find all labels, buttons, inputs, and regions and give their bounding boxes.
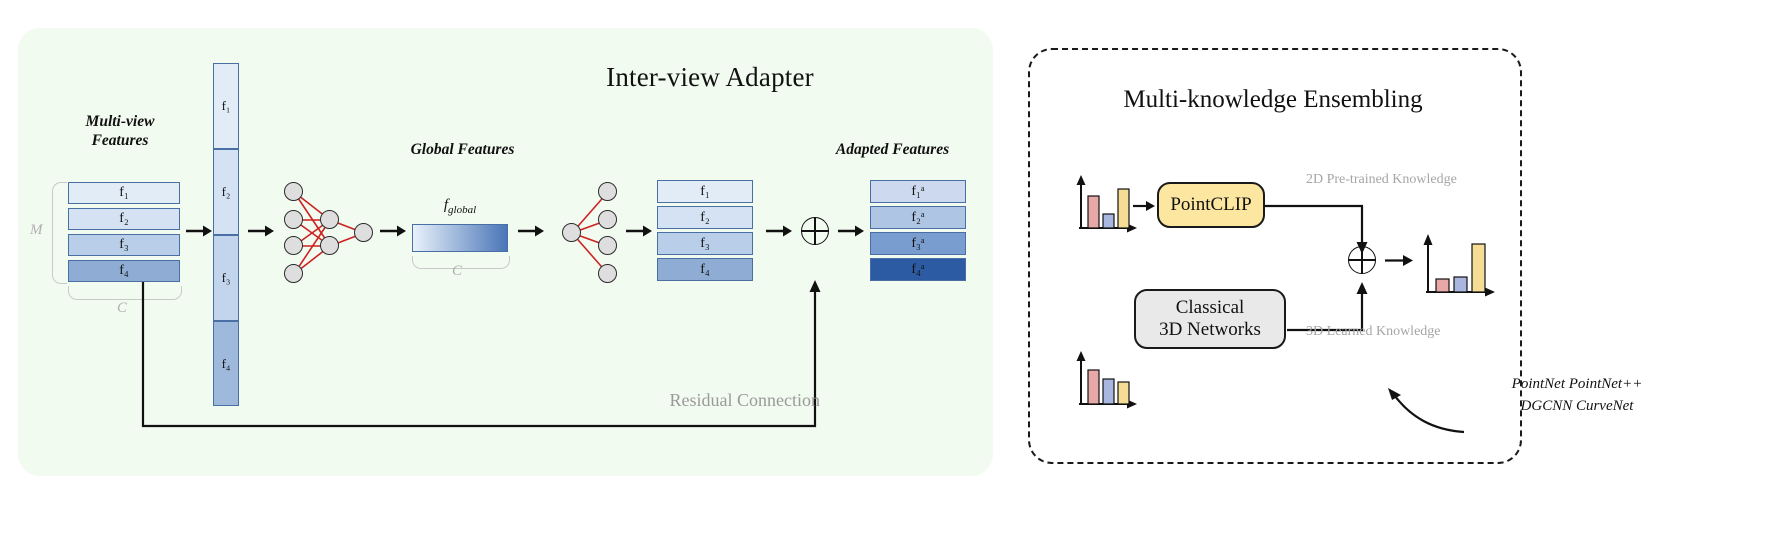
global-feature-bar <box>412 224 508 252</box>
classical-label-line1: Classical <box>1159 297 1261 319</box>
arrow-icon-to-output <box>1385 252 1413 269</box>
bar-chart-pointclip-input <box>1072 172 1140 234</box>
mid-feature-box-3: f₃ <box>657 232 753 255</box>
classical-network-names: PointNet PointNet++ DGCNN CurveNet <box>1482 374 1672 418</box>
mid-feature-label-1: f₁ <box>700 184 710 200</box>
arrow-icon-4 <box>518 222 544 240</box>
ensemble-add-icon <box>1348 246 1376 274</box>
caption-global-features: Global Features <box>355 140 570 159</box>
mlp-node <box>284 210 303 229</box>
pointclip-label: PointCLIP <box>1170 194 1251 216</box>
mlp-node <box>598 210 617 229</box>
multiview-feature-label-2: f₂ <box>119 211 129 227</box>
multiview-feature-box-2: f₂ <box>68 208 180 230</box>
label-2d-pretrained-knowledge: 2D Pre-trained Knowledge <box>1306 172 1457 188</box>
adapted-feature-box-1: f₁ᵃ <box>870 180 966 203</box>
adapted-feature-label-1: f₁ᵃ <box>911 184 924 200</box>
mlp-node <box>320 210 339 229</box>
arrow-icon-2 <box>248 222 274 240</box>
caption-multiview-line2: Features <box>40 131 200 150</box>
network-names-line2: DGCNN CurveNet <box>1482 396 1672 418</box>
arrow-icon-7 <box>838 222 864 240</box>
arrow-icon-to-pointclip <box>1133 198 1155 214</box>
mid-feature-box-2: f₂ <box>657 206 753 229</box>
arrow-icon-6 <box>766 222 792 240</box>
residual-connection-path <box>130 270 830 460</box>
adapted-feature-label-3: f₃ᵃ <box>911 236 924 252</box>
multiview-feature-label-1: f₁ <box>119 185 129 201</box>
adapted-feature-label-2: f₂ᵃ <box>911 210 924 226</box>
brace-m <box>52 182 67 284</box>
classical-label-line2: 3D Networks <box>1159 319 1261 341</box>
curved-arrow-to-classical-box <box>1284 378 1474 440</box>
arrow-icon-5 <box>626 222 652 240</box>
adapted-feature-box-3: f₃ᵃ <box>870 232 966 255</box>
multiview-feature-label-4: f₄ <box>119 263 129 279</box>
caption-adapted-features: Adapted Features <box>785 140 1000 159</box>
caption-multiview-line1: Multi-view <box>40 112 200 131</box>
mlp-node <box>598 264 617 283</box>
concat-bar-label-1: f₁ <box>222 98 231 114</box>
adapted-feature-label-4: f₄ᵃ <box>911 262 924 278</box>
mlp-node <box>284 236 303 255</box>
mlp-node <box>598 182 617 201</box>
dim-label-c: C <box>117 300 127 317</box>
mlp-node <box>284 264 303 283</box>
mlp-node <box>598 236 617 255</box>
label-3d-learned-knowledge: 3D Learned Knowledge <box>1306 324 1441 340</box>
bar-chart-ensembled-output <box>1418 228 1498 300</box>
multiview-feature-box-1: f₁ <box>68 182 180 204</box>
page-title-inter-view-adapter: Inter-view Adapter <box>380 62 1040 93</box>
global-feature-label: fglobal <box>402 197 518 216</box>
residual-connection-label: Residual Connection <box>600 390 820 411</box>
classical-3d-networks-box[interactable]: Classical 3D Networks <box>1134 289 1286 349</box>
multiview-feature-label-3: f₃ <box>119 237 129 253</box>
mlp-node <box>562 223 581 242</box>
dim-label-m: M <box>30 222 43 239</box>
network-names-line1: PointNet PointNet++ <box>1482 374 1672 396</box>
residual-add-icon <box>801 217 829 245</box>
mid-feature-box-1: f₁ <box>657 180 753 203</box>
concat-bar-segment-1: f₁ <box>213 63 239 149</box>
adapted-feature-box-2: f₂ᵃ <box>870 206 966 229</box>
caption-multi-view-features: Multi-view Features <box>40 112 200 151</box>
concat-bar-label-2: f₂ <box>222 184 231 200</box>
mlp-node <box>354 223 373 242</box>
mid-feature-label-2: f₂ <box>700 210 710 226</box>
mlp-node <box>284 182 303 201</box>
adapted-feature-box-4: f₄ᵃ <box>870 258 966 281</box>
bar-chart-3dnet-input <box>1072 348 1140 410</box>
pointclip-box[interactable]: PointCLIP <box>1157 182 1265 228</box>
multiview-feature-box-3: f₃ <box>68 234 180 256</box>
arrow-icon-3 <box>380 222 406 240</box>
mid-feature-label-3: f₃ <box>700 236 710 252</box>
page-title-multi-knowledge: Multi-knowledge Ensembling <box>1028 86 1518 114</box>
mlp-node <box>320 236 339 255</box>
concat-bar-segment-2: f₂ <box>213 149 239 235</box>
arrow-icon-1 <box>186 222 212 240</box>
